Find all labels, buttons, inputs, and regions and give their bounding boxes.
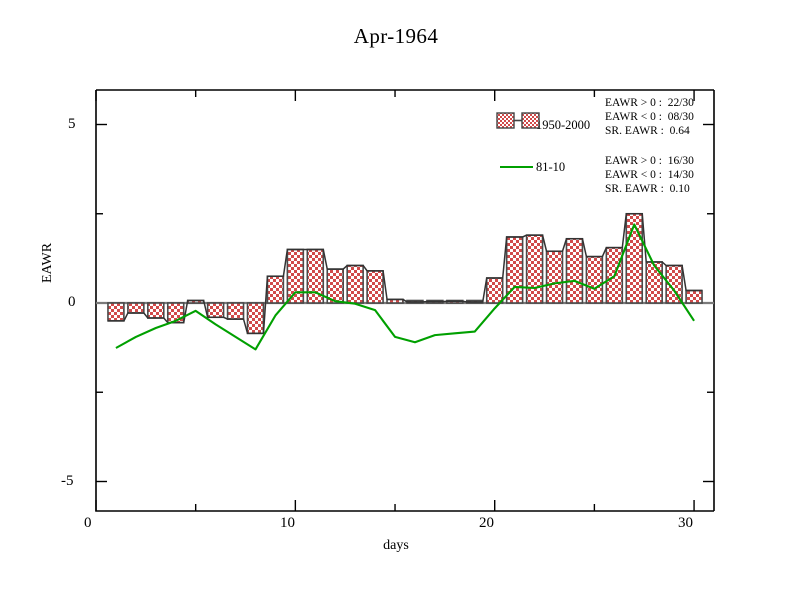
bar [228, 303, 244, 319]
bar [547, 251, 563, 303]
bar [686, 291, 702, 303]
bar [566, 239, 582, 303]
bar [128, 303, 144, 313]
bar [208, 303, 224, 317]
bar [347, 266, 363, 303]
bar [287, 249, 303, 303]
bar [367, 271, 383, 303]
chart-figure: Apr-1964 days EAWR 0 10 20 30 5 0 -5 195… [0, 0, 792, 612]
bar [248, 303, 264, 333]
bar [586, 257, 602, 303]
legend-marker-1950-2000 [497, 113, 539, 128]
bar [148, 303, 164, 318]
bar-series-1950-2000 [108, 214, 702, 334]
bar [646, 262, 662, 303]
bar [527, 235, 543, 303]
bar [487, 278, 503, 303]
plot-area [0, 0, 792, 612]
bar [267, 276, 283, 303]
bar [108, 303, 124, 321]
